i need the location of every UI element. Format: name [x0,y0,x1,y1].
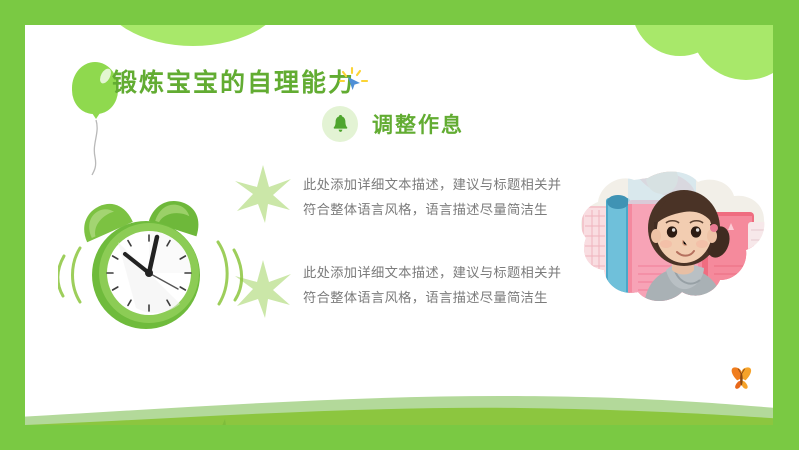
bell-icon [332,115,349,133]
body-paragraph-2: 此处添加详细文本描述，建议与标题相关并符合整体语言风格，语言描述尽量简洁生 [303,260,565,310]
frame-border-bottom [0,425,799,450]
body-paragraph-1: 此处添加详细文本描述，建议与标题相关并符合整体语言风格，语言描述尽量简洁生 [303,172,565,222]
alarm-clock-icon [58,190,248,330]
motion-lines-right [218,242,242,304]
clock-center-pin [145,269,153,277]
slide-canvas: 锻炼宝宝的自理能力 调整作息 [0,0,799,450]
subtitle-text: 调整作息 [372,109,464,139]
frame-border-right [773,0,799,450]
child-with-books-photo [578,170,774,310]
butterfly-icon [732,367,751,388]
frame-border-top [0,0,799,25]
photo-content [578,170,774,310]
page-title: 锻炼宝宝的自理能力 [112,63,355,99]
bell-icon-badge [322,106,358,142]
motion-lines-left [58,248,80,302]
click-cursor-sparkle-icon [338,66,368,96]
balloon-string [86,117,126,177]
subtitle-row: 调整作息 [322,106,464,142]
frame-border-left [0,0,25,450]
